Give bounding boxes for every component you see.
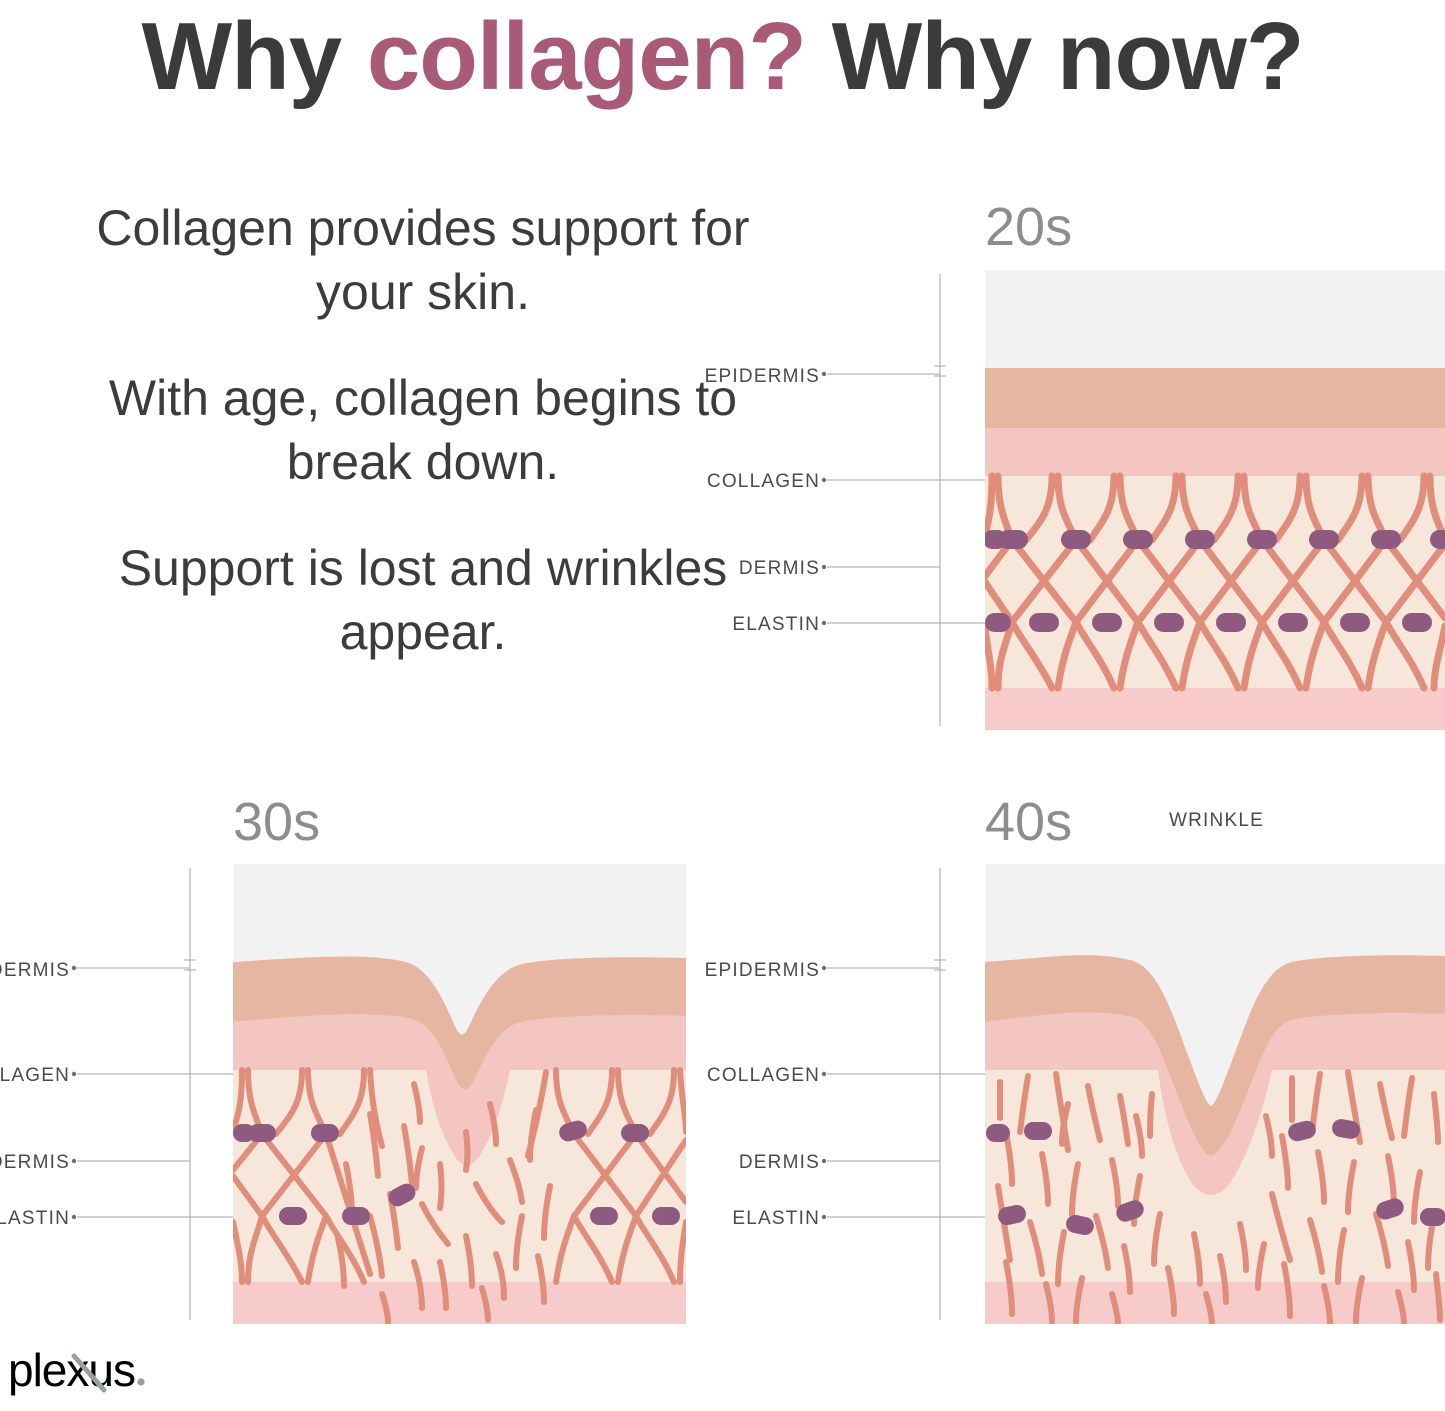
- subcutis-band-30s: [233, 1282, 686, 1324]
- epidermis-lower-layer-20s: [985, 428, 1445, 476]
- label-collagen-30s: COLLAGEN: [0, 1065, 70, 1087]
- skin-cross-section-20s: [820, 270, 1445, 730]
- label-dermis-30s: DERMIS: [0, 1152, 70, 1174]
- title-accent-collagen: collagen?: [367, 3, 806, 110]
- skin-cross-section-30s: [70, 864, 695, 1324]
- skin-diagram-20s-svg: [820, 270, 1445, 730]
- label-epidermis-20s: EPIDERMIS: [700, 366, 820, 388]
- panel-20s-title: 20s: [985, 200, 1072, 254]
- leader-dots-30s: [72, 966, 76, 1219]
- label-dermis-40s: DERMIS: [700, 1152, 820, 1174]
- label-epidermis-40s: EPIDERMIS: [700, 960, 820, 982]
- subcutis-band-20s: [985, 688, 1445, 730]
- copy-paragraph-1: Collagen provides support for your skin.: [78, 196, 768, 324]
- copy-paragraph-3: Support is lost and wrinkles appear.: [78, 536, 768, 664]
- skin-layers-20s: [983, 270, 1445, 730]
- intro-copy-block: Collagen provides support for your skin.…: [78, 196, 768, 664]
- label-epidermis-30s: EPIDERMIS: [0, 960, 70, 982]
- skin-cross-section-40s: [820, 864, 1445, 1324]
- label-elastin-40s: ELASTIN: [700, 1208, 820, 1230]
- label-collagen-40s: COLLAGEN: [700, 1065, 820, 1087]
- skin-diagram-40s-svg: [820, 864, 1445, 1324]
- skin-layers-40s: [985, 864, 1445, 1324]
- plexus-logo: plexus: [8, 1342, 188, 1402]
- air-layer-20s: [985, 270, 1445, 368]
- skin-diagram-30s-svg: [70, 864, 695, 1324]
- label-collagen-20s: COLLAGEN: [700, 471, 820, 493]
- label-dermis-20s: DERMIS: [700, 558, 820, 580]
- epidermis-layer-20s: [985, 368, 1445, 428]
- label-wrinkle-40s: WRINKLE: [1169, 810, 1264, 832]
- skin-layers-30s: [233, 864, 686, 1324]
- plexus-logo-text: plexus: [8, 1344, 135, 1396]
- panel-40s-title: 40s: [985, 795, 1072, 849]
- leader-dots-20s: [822, 372, 826, 625]
- page-title: Why collagen? Why now?: [0, 2, 1445, 112]
- copy-paragraph-2: With age, collagen begins to break down.: [78, 366, 768, 494]
- panel-30s-title: 30s: [233, 795, 320, 849]
- plexus-logo-svg: plexus: [8, 1342, 188, 1402]
- label-elastin-20s: ELASTIN: [700, 614, 820, 636]
- leader-dots-40s: [822, 966, 826, 1219]
- title-part-1: Why: [142, 3, 367, 110]
- label-elastin-30s: ELASTIN: [0, 1208, 70, 1230]
- logo-dot: [137, 1378, 144, 1385]
- title-part-2: Why now?: [806, 3, 1304, 110]
